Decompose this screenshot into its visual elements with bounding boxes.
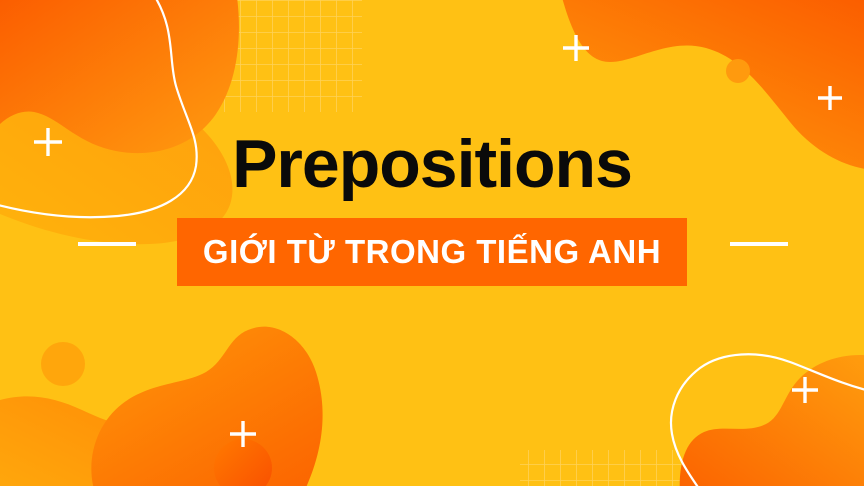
plus-bottom-left-icon [230, 421, 256, 447]
plus-bottom-right-icon [792, 377, 818, 403]
rule-left [78, 242, 136, 246]
bottom-left-blob [91, 327, 322, 486]
bottom-left-circle [41, 342, 85, 386]
slide-canvas: Prepositions GIỚI TỪ TRONG TIẾNG ANH [0, 0, 864, 486]
rule-right [730, 242, 788, 246]
subtitle-text: GIỚI TỪ TRONG TIẾNG ANH [203, 233, 661, 271]
curve-bottom-right [671, 354, 864, 486]
bottom-left-red-dot [214, 439, 272, 486]
bottom-left-blob-secondary [0, 396, 202, 486]
page-title: Prepositions [0, 124, 864, 204]
bottom-right-blob [680, 355, 864, 486]
plus-top-right-icon [818, 86, 842, 110]
top-right-circle [726, 59, 750, 83]
grid-bottom [520, 450, 724, 486]
subtitle-banner: GIỚI TỪ TRONG TIẾNG ANH [177, 218, 687, 286]
grid-top [170, 0, 362, 112]
plus-top-center-icon [563, 35, 589, 61]
